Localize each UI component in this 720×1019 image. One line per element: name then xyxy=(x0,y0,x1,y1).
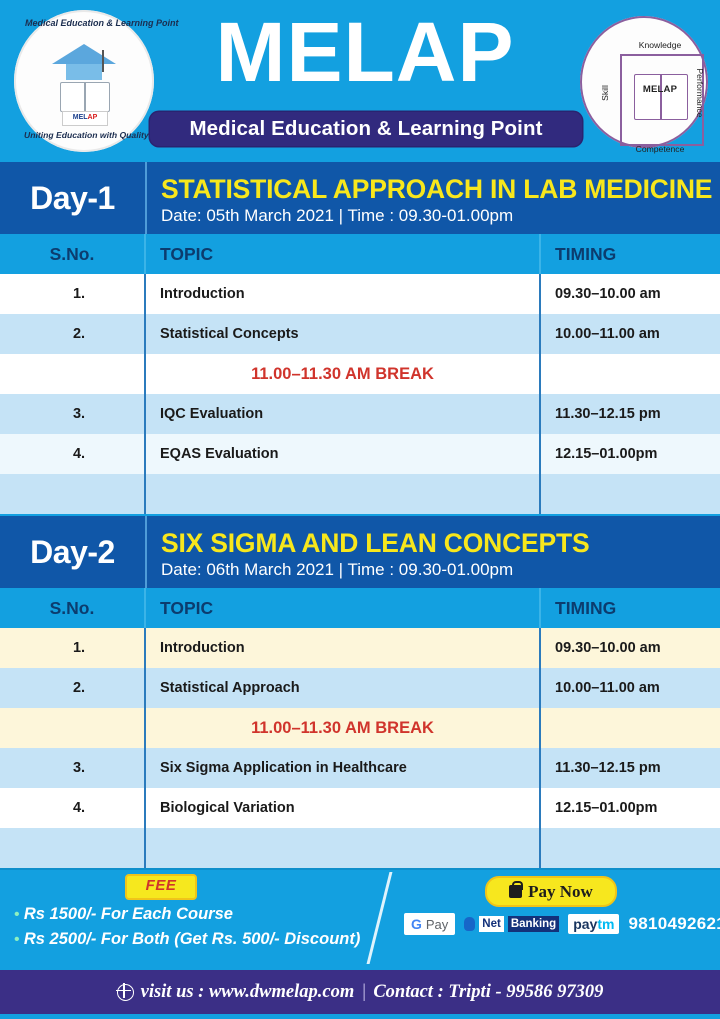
break-timing xyxy=(540,708,720,748)
spacer-cell xyxy=(0,828,145,868)
bullet-icon: • xyxy=(14,931,19,948)
seal-chip-prefix: MEL xyxy=(73,114,88,121)
mouse-icon xyxy=(464,917,475,931)
framework-center-label: MELAP xyxy=(634,84,686,95)
spacer-cell xyxy=(540,828,720,868)
column-header-0: S.No. xyxy=(0,588,145,628)
contact-bar-separator: | xyxy=(361,982,366,1003)
pay-now-label: Pay Now xyxy=(528,882,593,902)
row-topic: Introduction xyxy=(145,628,540,668)
payment-column: Pay Now G Pay Net Banking paytm 98104926… xyxy=(400,876,720,935)
spacer-row xyxy=(0,828,720,868)
fee-line-2: • Rs 2500/- For Both (Get Rs. 500/- Disc… xyxy=(0,927,380,952)
table-row: 4.EQAS Evaluation12.15–01.00pm xyxy=(0,434,720,474)
day-meta-1: STATISTICAL APPROACH IN LAB MEDICINEDate… xyxy=(147,162,720,234)
lock-icon xyxy=(509,885,522,898)
graduation-cap-base-icon xyxy=(66,64,102,80)
table-row: 2.Statistical Approach10.00–11.00 am xyxy=(0,668,720,708)
day-label-1: Day-1 xyxy=(0,162,147,234)
row-sno: 2. xyxy=(0,314,145,354)
column-header-2: TIMING xyxy=(540,234,720,274)
google-g-icon: G xyxy=(411,916,422,932)
row-timing: 09.30–10.00 am xyxy=(540,274,720,314)
day-title-1: STATISTICAL APPROACH IN LAB MEDICINE xyxy=(161,174,720,204)
day-meta-2: SIX SIGMA AND LEAN CONCEPTSDate: 06th Ma… xyxy=(147,516,720,588)
day-header-2: Day-2SIX SIGMA AND LEAN CONCEPTSDate: 06… xyxy=(0,514,720,588)
day-label-2: Day-2 xyxy=(0,516,147,588)
row-sno: 1. xyxy=(0,274,145,314)
column-header-0: S.No. xyxy=(0,234,145,274)
spacer-cell xyxy=(540,474,720,514)
payment-methods-row: G Pay Net Banking paytm 9810492621 xyxy=(400,913,720,935)
fee-badge: FEE xyxy=(125,874,197,900)
spacer-cell xyxy=(145,474,540,514)
seal-melap-chip: MELAP xyxy=(62,111,108,126)
row-timing: 10.00–11.00 am xyxy=(540,314,720,354)
spacer-row xyxy=(0,474,720,514)
row-timing: 12.15–01.00pm xyxy=(540,788,720,828)
table-row: 4.Biological Variation12.15–01.00pm xyxy=(0,788,720,828)
day-title-2: SIX SIGMA AND LEAN CONCEPTS xyxy=(161,528,720,558)
melap-framework-logo: MELAP Knowledge Performance Competence S… xyxy=(580,16,708,148)
fee-column: FEE • Rs 1500/- For Each Course • Rs 250… xyxy=(0,874,380,952)
break-label: 11.00–11.30 AM BREAK xyxy=(145,354,540,394)
contact-text: Contact : Tripti - 99586 97309 xyxy=(373,982,603,1003)
row-sno: 3. xyxy=(0,394,145,434)
table-header-row: S.No.TOPICTIMING xyxy=(0,234,720,274)
brand-wordmark: MELAP xyxy=(160,6,570,98)
graduation-cap-tassel-icon xyxy=(102,50,104,72)
day-subtitle-2: Date: 06th March 2021 | Time : 09.30-01.… xyxy=(161,558,720,582)
row-timing: 09.30–10.00 am xyxy=(540,628,720,668)
row-timing: 12.15–01.00pm xyxy=(540,434,720,474)
schedule-days: Day-1STATISTICAL APPROACH IN LAB MEDICIN… xyxy=(0,160,720,868)
row-topic: Six Sigma Application in Healthcare xyxy=(145,748,540,788)
column-header-2: TIMING xyxy=(540,588,720,628)
footer-section: FEE • Rs 1500/- For Each Course • Rs 250… xyxy=(0,868,720,970)
break-row: 11.00–11.30 AM BREAK xyxy=(0,708,720,748)
row-timing: 11.30–12.15 pm xyxy=(540,394,720,434)
table-row: 1.Introduction09.30–10.00 am xyxy=(0,274,720,314)
table-header-row: S.No.TOPICTIMING xyxy=(0,588,720,628)
table-row: 3.IQC Evaluation11.30–12.15 pm xyxy=(0,394,720,434)
table-row: 2.Statistical Concepts10.00–11.00 am xyxy=(0,314,720,354)
header-banner: Medical Education & Learning Point MELAP… xyxy=(0,0,720,160)
row-timing: 10.00–11.00 am xyxy=(540,668,720,708)
seal-top-arc-text: Medical Education & Learning Point xyxy=(25,18,143,28)
fee-line-2-text: Rs 2500/- For Both (Get Rs. 500/- Discou… xyxy=(24,930,360,948)
fee-line-1: • Rs 1500/- For Each Course xyxy=(0,902,380,927)
row-sno: 4. xyxy=(0,788,145,828)
row-topic: Statistical Concepts xyxy=(145,314,540,354)
framework-label-competence: Competence xyxy=(622,144,698,154)
row-topic: Statistical Approach xyxy=(145,668,540,708)
spacer-cell xyxy=(145,828,540,868)
brand-subtitle-bar: Medical Education & Learning Point xyxy=(150,112,582,146)
column-header-1: TOPIC xyxy=(145,588,540,628)
gpay-label: Pay xyxy=(426,917,448,932)
table-row: 1.Introduction09.30–10.00 am xyxy=(0,628,720,668)
row-sno: 1. xyxy=(0,628,145,668)
row-sno: 2. xyxy=(0,668,145,708)
contact-bar: visit us : www.dwmelap.com | Contact : T… xyxy=(0,970,720,1014)
break-label: 11.00–11.30 AM BREAK xyxy=(145,708,540,748)
break-timing xyxy=(540,354,720,394)
column-header-1: TOPIC xyxy=(145,234,540,274)
row-topic: EQAS Evaluation xyxy=(145,434,540,474)
schedule-table-2: S.No.TOPICTIMING1.Introduction09.30–10.0… xyxy=(0,588,720,868)
seal-art: Medical Education & Learning Point MELAP… xyxy=(14,10,154,152)
open-book-icon xyxy=(60,82,110,112)
row-sno: 3. xyxy=(0,748,145,788)
row-timing: 11.30–12.15 pm xyxy=(540,748,720,788)
framework-art: MELAP Knowledge Performance Competence S… xyxy=(596,32,692,132)
break-sno xyxy=(0,354,145,394)
row-topic: IQC Evaluation xyxy=(145,394,540,434)
brand-subtitle-text: Medical Education & Learning Point xyxy=(189,117,542,141)
gpay-badge[interactable]: G Pay xyxy=(404,913,455,935)
netbanking-net-label: Net xyxy=(479,916,504,932)
melap-seal-logo: Medical Education & Learning Point MELAP… xyxy=(14,10,154,152)
fee-line-1-text: Rs 1500/- For Each Course xyxy=(24,905,233,923)
table-row: 3.Six Sigma Application in Healthcare11.… xyxy=(0,748,720,788)
globe-icon xyxy=(117,984,134,1001)
day-subtitle-1: Date: 05th March 2021 | Time : 09.30-01.… xyxy=(161,204,720,228)
netbanking-badge[interactable]: Net Banking xyxy=(464,916,559,932)
pay-now-button[interactable]: Pay Now xyxy=(485,876,617,907)
netbanking-banking-label: Banking xyxy=(508,916,559,932)
break-sno xyxy=(0,708,145,748)
row-topic: Biological Variation xyxy=(145,788,540,828)
framework-label-performance: Performance xyxy=(695,65,705,121)
website-text[interactable]: visit us : www.dwmelap.com xyxy=(141,982,355,1003)
framework-book-icon xyxy=(634,74,688,120)
schedule-table-1: S.No.TOPICTIMING1.Introduction09.30–10.0… xyxy=(0,234,720,514)
row-sno: 4. xyxy=(0,434,145,474)
row-topic: Introduction xyxy=(145,274,540,314)
flyer-page: Medical Education & Learning Point MELAP… xyxy=(0,0,720,1019)
graduation-cap-icon xyxy=(52,44,116,64)
framework-label-knowledge: Knowledge xyxy=(626,40,694,50)
bullet-icon: • xyxy=(14,906,19,923)
day-header-1: Day-1STATISTICAL APPROACH IN LAB MEDICIN… xyxy=(0,160,720,234)
paytm-badge[interactable]: paytm xyxy=(568,914,619,934)
seal-chip-suffix: AP xyxy=(88,114,98,121)
payment-phone-number: 9810492621 xyxy=(628,914,720,934)
break-row: 11.00–11.30 AM BREAK xyxy=(0,354,720,394)
paytm-label-a: pay xyxy=(573,916,597,932)
framework-label-skill: Skill xyxy=(600,71,610,115)
spacer-cell xyxy=(0,474,145,514)
paytm-label-b: tm xyxy=(597,916,614,932)
seal-bottom-arc-text: Uniting Education with Quality xyxy=(24,130,144,140)
